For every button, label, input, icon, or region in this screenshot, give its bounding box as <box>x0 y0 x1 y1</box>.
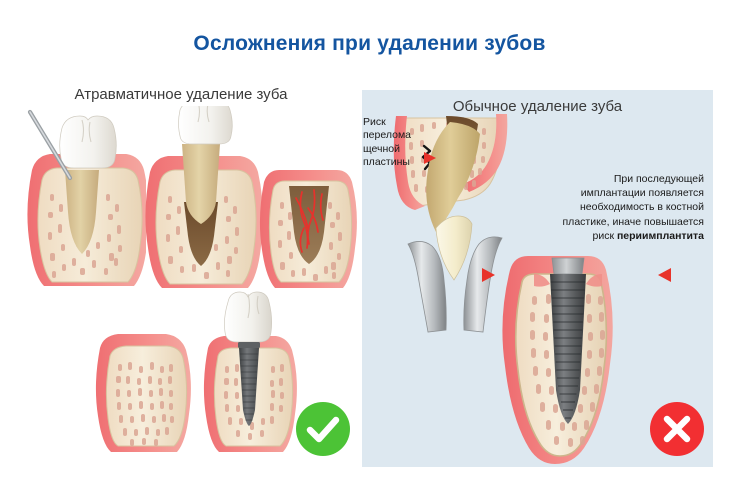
figure-implant-in-healthy-bone <box>198 290 308 454</box>
arrow-fracture-icon <box>424 152 436 164</box>
forceps-beak-left <box>408 241 446 332</box>
callout-peri-bold-term: периимплантита <box>617 230 704 242</box>
callout-fracture-line-3: щечной <box>363 143 423 156</box>
figure-empty-socket-with-clot <box>256 168 362 290</box>
callout-fracture-risk: Риск перелома щечной пластины <box>363 116 423 170</box>
callout-fracture-line-2: перелома <box>363 129 423 142</box>
page-title: Осложнения при удалении зубов <box>0 32 739 56</box>
callout-peri-line-1: При последующей <box>490 172 704 186</box>
figure-healed-bone <box>92 326 198 454</box>
tooth-crown <box>179 106 233 144</box>
callout-periimplantitis: При последующей имплантации появляется н… <box>490 172 704 243</box>
callout-peri-line-2: имплантации появляется <box>490 186 704 200</box>
figure-tooth-being-luxated <box>140 106 262 288</box>
arrow-bone-loss-left-icon <box>482 268 495 282</box>
tooth-crown <box>60 116 117 168</box>
implant-abutment <box>238 342 260 348</box>
implant-abutment <box>552 258 584 274</box>
figure-tooth-with-periotome <box>18 108 146 288</box>
panel-conventional-extraction: Обычное удаление зуба <box>362 90 713 467</box>
check-icon <box>296 402 350 456</box>
cross-icon <box>650 402 704 456</box>
left-panel-heading: Атравматичное удаление зуба <box>0 86 362 103</box>
callout-peri-line-3: необходимость в костной <box>490 200 704 214</box>
callout-peri-line-4: пластике, иначе повышается <box>490 215 704 229</box>
callout-fracture-line-1: Риск <box>363 116 423 129</box>
panel-atraumatic-extraction: Атравматичное удаление зуба <box>0 78 362 467</box>
callout-peri-line-5: риск <box>592 230 616 242</box>
callout-fracture-line-4: пластины <box>363 156 423 169</box>
figure-implant-with-bone-loss <box>494 252 662 466</box>
arrow-bone-loss-right-icon <box>658 268 671 282</box>
